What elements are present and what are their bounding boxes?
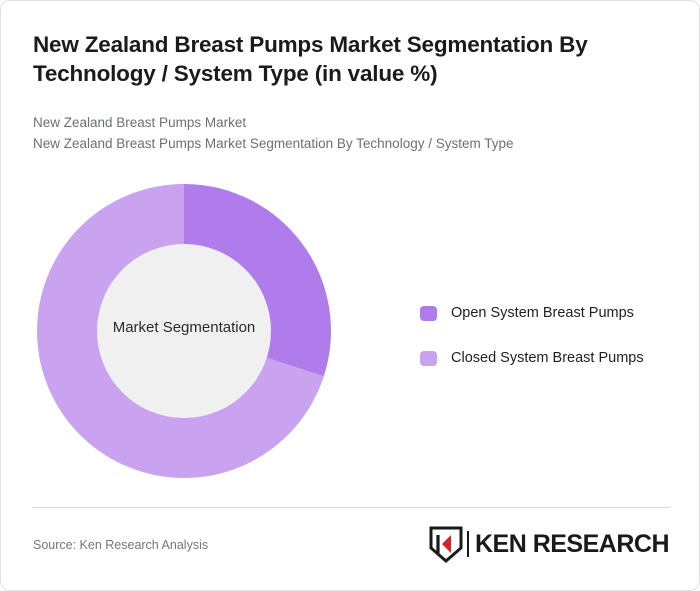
chart-legend: Open System Breast Pumps Closed System B… [420, 301, 670, 391]
footer-divider [32, 507, 670, 508]
source-note: Source: Ken Research Analysis [33, 538, 208, 552]
chart-area: Market Segmentation Open System Breast P… [1, 1, 700, 501]
donut-chart [37, 184, 331, 478]
legend-item-closed-system[interactable]: Closed System Breast Pumps [420, 346, 670, 370]
legend-label-closed-system: Closed System Breast Pumps [451, 350, 644, 366]
legend-swatch-closed-system [420, 351, 437, 366]
legend-swatch-open-system [420, 306, 437, 321]
logo-wordmark: KEN RESEARCH [475, 530, 669, 559]
legend-item-open-system[interactable]: Open System Breast Pumps [420, 301, 670, 325]
chart-card: New Zealand Breast Pumps Market Segmenta… [0, 0, 700, 591]
ken-research-logo-mark-icon [429, 525, 463, 563]
logo-separator [467, 531, 469, 557]
donut-hole [97, 244, 271, 418]
legend-label-open-system: Open System Breast Pumps [451, 305, 634, 321]
ken-research-logo: KEN RESEARCH [429, 525, 669, 563]
donut-svg [37, 184, 331, 478]
